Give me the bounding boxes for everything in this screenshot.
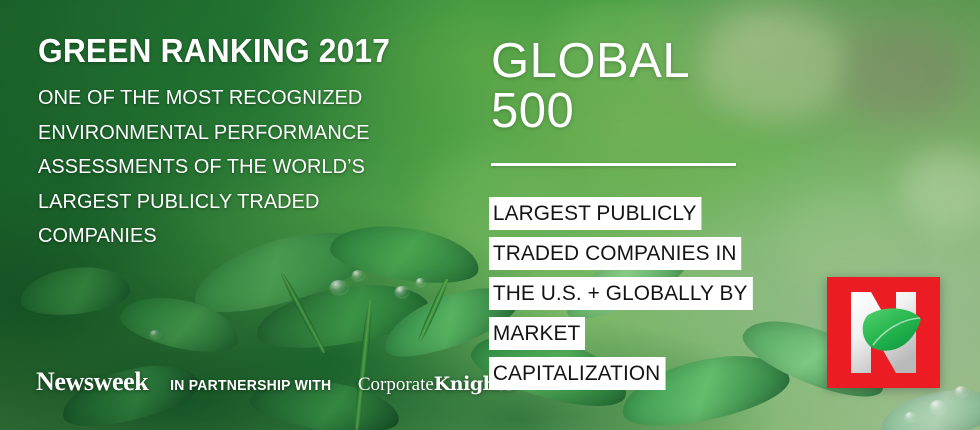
newsweek-logo — [827, 277, 940, 388]
highlight-line: MARKET — [489, 317, 585, 350]
newsweek-wordmark: Newsweek — [36, 369, 148, 395]
highlight-line: LARGEST PUBLICLY — [489, 197, 701, 230]
global-500-title-line: GLOBAL — [491, 36, 791, 86]
highlight-line: CAPITALIZATION — [489, 357, 665, 390]
right-text-column: GLOBAL 500 — [491, 36, 791, 136]
highlight-row: LARGEST PUBLICLY — [489, 197, 779, 230]
partnership-bar: Newsweek IN PARTNERSHIP WITH CorporateKn… — [36, 369, 514, 395]
corporate-knights-prefix: Corporate — [358, 374, 434, 395]
highlight-row: TRADED COMPANIES IN — [489, 237, 779, 270]
subheadline-line: ONE OF THE MOST RECOGNIZED — [38, 81, 445, 116]
description-highlight-block: LARGEST PUBLICLY TRADED COMPANIES IN THE… — [489, 197, 779, 390]
subheadline-line: ENVIRONMENTAL PERFORMANCE — [38, 116, 445, 151]
highlight-row: MARKET — [489, 317, 779, 350]
highlight-line: TRADED COMPANIES IN — [489, 237, 741, 270]
partnership-connector-label: IN PARTNERSHIP WITH — [170, 378, 331, 393]
highlight-row: THE U.S. + GLOBALLY BY — [489, 277, 779, 310]
global-500-title-line: 500 — [491, 86, 791, 136]
subheadline-list: ONE OF THE MOST RECOGNIZED ENVIRONMENTAL… — [38, 81, 458, 254]
global-500-title: GLOBAL 500 — [491, 36, 791, 136]
highlight-line: THE U.S. + GLOBALLY BY — [489, 277, 752, 310]
subheadline-line: COMPANIES — [38, 219, 445, 254]
highlight-row: CAPITALIZATION — [489, 357, 779, 390]
left-text-column: GREEN RANKING 2017 ONE OF THE MOST RECOG… — [38, 34, 458, 254]
horizontal-divider — [491, 163, 736, 166]
page-title: GREEN RANKING 2017 — [38, 34, 441, 67]
green-ranking-banner: GREEN RANKING 2017 ONE OF THE MOST RECOG… — [0, 0, 980, 430]
subheadline-line: LARGEST PUBLICLY TRADED — [38, 185, 445, 220]
newsweek-n-leaf-icon — [827, 277, 940, 388]
subheadline-line: ASSESSMENTS OF THE WORLD’S — [38, 150, 445, 185]
